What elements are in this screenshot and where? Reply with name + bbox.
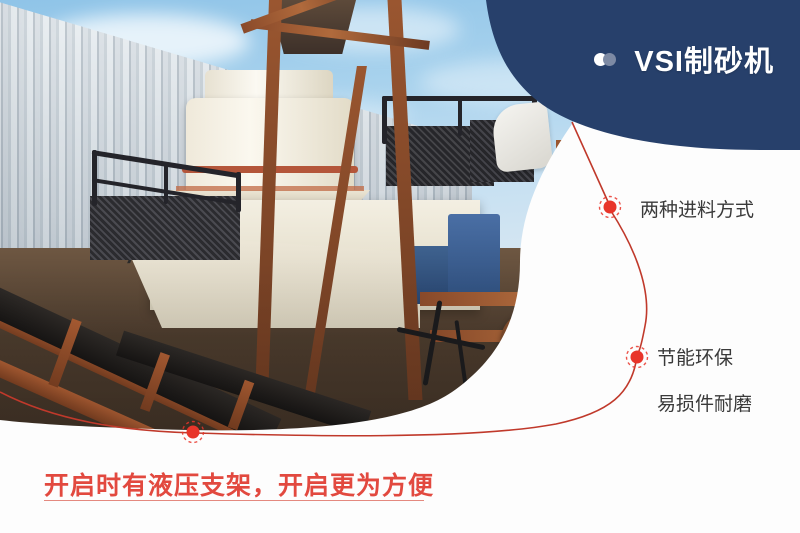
steel-column xyxy=(612,250,626,420)
feature-marker-1 xyxy=(600,197,621,218)
shrub xyxy=(612,332,658,366)
connector-path-2 xyxy=(611,211,647,353)
title-row: VSI制砂机 xyxy=(594,38,774,80)
pulley-bolt xyxy=(512,322,517,327)
feature-1-line-1: 两种进料方式 xyxy=(640,196,754,226)
feature-2-line-2: 易损件耐磨 xyxy=(657,390,752,420)
pulley-bolt xyxy=(550,360,555,365)
caption-underline xyxy=(44,500,424,501)
feature-marker-2 xyxy=(627,347,648,368)
feature-label-1: 两种进料方式 xyxy=(640,196,754,226)
page-title: VSI制砂机 xyxy=(634,38,774,80)
feature-2-line-1: 节能环保 xyxy=(657,344,752,374)
header-content: VSI制砂机 xyxy=(460,0,800,150)
pulley-bolt xyxy=(548,328,553,333)
pulley-hub xyxy=(522,332,544,354)
shrub xyxy=(586,316,638,356)
poster-canvas: 7 xyxy=(0,0,800,533)
steel-column xyxy=(556,140,568,410)
double-dot-marker-icon xyxy=(594,53,620,66)
bottom-caption: 开启时有液压支架，开启更为方便 xyxy=(44,466,434,502)
pulley-bolt xyxy=(514,358,519,363)
feature-label-2: 节能环保 易损件耐磨 xyxy=(657,344,752,420)
